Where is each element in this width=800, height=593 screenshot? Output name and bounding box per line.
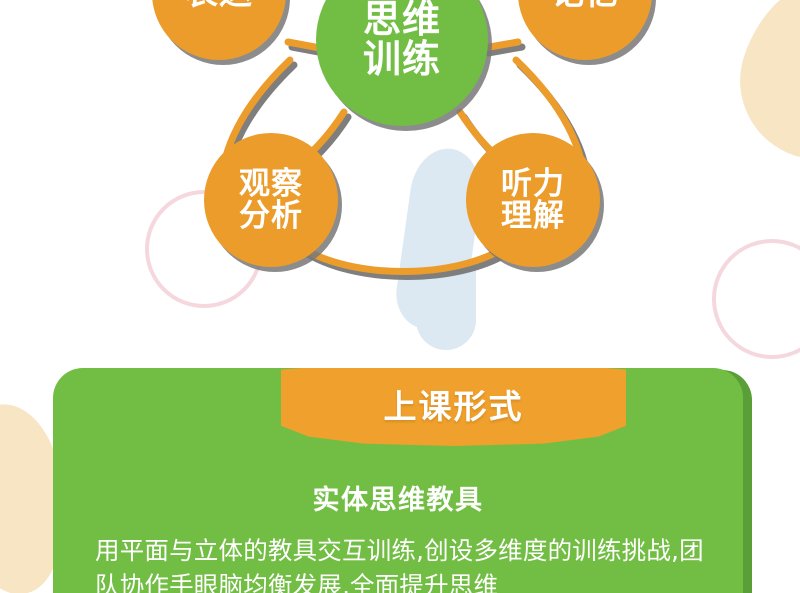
card-body: 上课形式 实体思维教具 用平面与立体的教具交互训练,创设多维度的训练挑战,团队协…	[53, 368, 743, 593]
card-subtitle: 实体思维教具	[53, 478, 743, 517]
promo-page: 表达 记忆 思维 训练 观察 分析 听力 理解 上课形式 实体思维教具 用平面与…	[0, 0, 800, 593]
card-paragraph: 用平面与立体的教具交互训练,创设多维度的训练挑战,团队协作手眼脑均衡发展,全面提…	[95, 534, 705, 593]
diagram-node-listen-label-line1: 听力	[501, 168, 565, 200]
mindmap-diagram: 表达 记忆 思维 训练 观察 分析 听力 理解	[0, 0, 800, 360]
ribbon-title: 上课形式	[281, 368, 626, 446]
class-format-card: 上课形式 实体思维教具 用平面与立体的教具交互训练,创设多维度的训练挑战,团队协…	[0, 352, 800, 593]
diagram-node-observe-label-line2: 分析	[239, 200, 303, 232]
diagram-node-observe[interactable]: 观察 分析	[204, 133, 338, 267]
diagram-node-center-label-line2: 训练	[363, 40, 441, 80]
diagram-node-memory-label: 记忆	[551, 0, 619, 10]
diagram-node-observe-label-line1: 观察	[239, 168, 303, 200]
diagram-node-listen-label-line2: 理解	[501, 200, 565, 232]
diagram-node-listen[interactable]: 听力 理解	[466, 133, 600, 267]
diagram-node-express-label: 表达	[185, 0, 253, 10]
diagram-node-center-label-line1: 思维	[363, 0, 441, 40]
section-ribbon-banner: 上课形式	[281, 368, 626, 446]
